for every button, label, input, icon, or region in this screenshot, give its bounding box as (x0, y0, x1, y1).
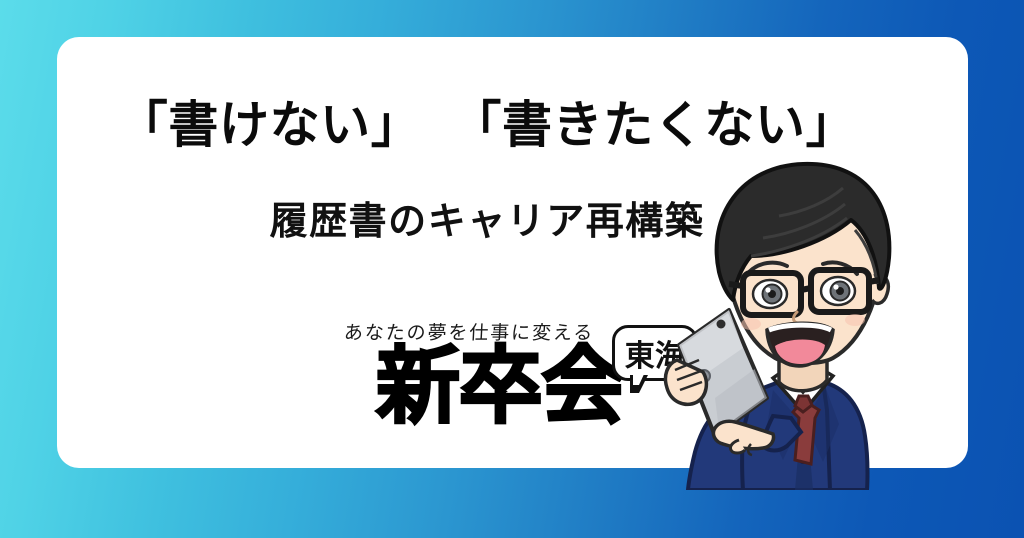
page-title: 「書けない」「書きたくない」 (57, 96, 917, 155)
banner-canvas: 「書けない」「書きたくない」 履歴書のキャリア再構築 あなたの夢を仕事に変える … (0, 0, 1024, 538)
headline-part-2: 「書きたくない」 (451, 97, 856, 153)
businessman-illustration (655, 160, 955, 490)
brand-logo: あなたの夢を仕事に変える 新卒会 (340, 318, 640, 446)
brand-name: 新卒会 (376, 344, 624, 428)
headline-part-1: 「書けない」 (118, 97, 422, 153)
